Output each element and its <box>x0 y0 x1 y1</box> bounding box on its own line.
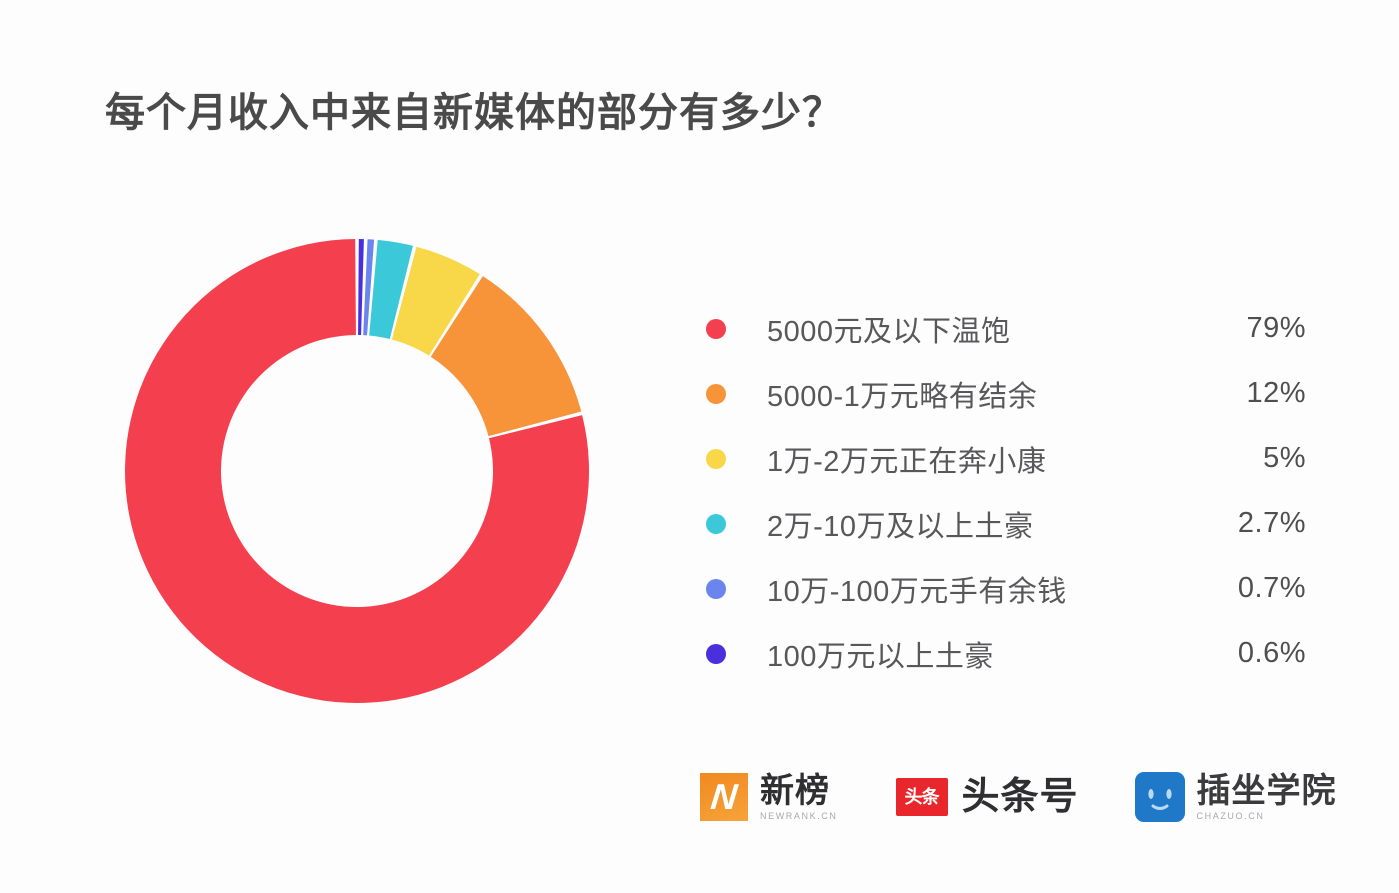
donut-chart-svg <box>122 236 592 706</box>
chazuo-subtitle: CHAZUO.CN <box>1197 812 1337 821</box>
logo-chazuo-xueyuan[interactable]: 插坐学院 CHAZUO.CN <box>1135 772 1337 822</box>
legend-value-5: 0.6% <box>1196 637 1306 670</box>
newrank-n-glyph: N <box>709 779 739 815</box>
donut-chart <box>122 236 592 706</box>
legend-item-0[interactable]: 5000元及以下温饱 79% <box>706 296 1306 361</box>
logo-toutiaohao[interactable]: 头条 头条号 <box>896 778 1079 816</box>
chazuo-text: 插坐学院 CHAZUO.CN <box>1197 774 1337 821</box>
donut-slice-5[interactable] <box>358 239 364 335</box>
legend-dot-indigo <box>706 644 726 664</box>
legend-item-4[interactable]: 10万-100万元手有余钱 0.7% <box>706 556 1306 621</box>
legend-label-0: 5000元及以下温饱 <box>767 308 1196 350</box>
partner-logo-bar: N 新榜 NEWRANK.CN 头条 头条号 插坐学院 CHAZUO.CN <box>700 772 1337 822</box>
toutiao-name: 头条号 <box>962 778 1079 816</box>
newrank-name: 新榜 <box>760 774 838 808</box>
toutiao-mark-icon: 头条 <box>896 778 948 816</box>
page-title: 每个月收入中来自新媒体的部分有多少？ <box>105 80 843 138</box>
legend-value-0: 79% <box>1196 312 1306 345</box>
newrank-text: 新榜 NEWRANK.CN <box>760 774 838 821</box>
legend-item-5[interactable]: 100万元以上土豪 0.6% <box>706 621 1306 686</box>
legend-value-2: 5% <box>1196 442 1306 475</box>
legend-value-1: 12% <box>1196 377 1306 410</box>
legend-dot-blue <box>706 579 726 599</box>
legend-item-2[interactable]: 1万-2万元正在奔小康 5% <box>706 426 1306 491</box>
legend-dot-red <box>706 319 726 339</box>
legend-dot-cyan <box>706 514 726 534</box>
legend-label-3: 2万-10万及以上土豪 <box>767 503 1196 545</box>
legend-value-3: 2.7% <box>1196 507 1306 540</box>
logo-newrank[interactable]: N 新榜 NEWRANK.CN <box>700 773 838 821</box>
newrank-mark-icon: N <box>700 773 748 821</box>
chart-legend: 5000元及以下温饱 79% 5000-1万元略有结余 12% 1万-2万元正在… <box>706 296 1306 686</box>
legend-label-4: 10万-100万元手有余钱 <box>767 568 1196 610</box>
legend-dot-yellow <box>706 449 726 469</box>
toutiao-text: 头条号 <box>962 778 1079 816</box>
legend-item-3[interactable]: 2万-10万及以上土豪 2.7% <box>706 491 1306 556</box>
chazuo-name: 插坐学院 <box>1197 774 1337 808</box>
legend-label-2: 1万-2万元正在奔小康 <box>767 438 1196 480</box>
toutiao-glyph: 头条 <box>905 788 939 806</box>
legend-item-1[interactable]: 5000-1万元略有结余 12% <box>706 361 1306 426</box>
legend-dot-orange <box>706 384 726 404</box>
legend-value-4: 0.7% <box>1196 572 1306 605</box>
donut-slice-group <box>125 239 589 703</box>
legend-label-5: 100万元以上土豪 <box>767 633 1196 675</box>
legend-label-1: 5000-1万元略有结余 <box>767 373 1196 415</box>
chazuo-mark-icon <box>1135 772 1185 822</box>
smiley-face-icon <box>1135 772 1185 822</box>
newrank-subtitle: NEWRANK.CN <box>760 812 838 821</box>
